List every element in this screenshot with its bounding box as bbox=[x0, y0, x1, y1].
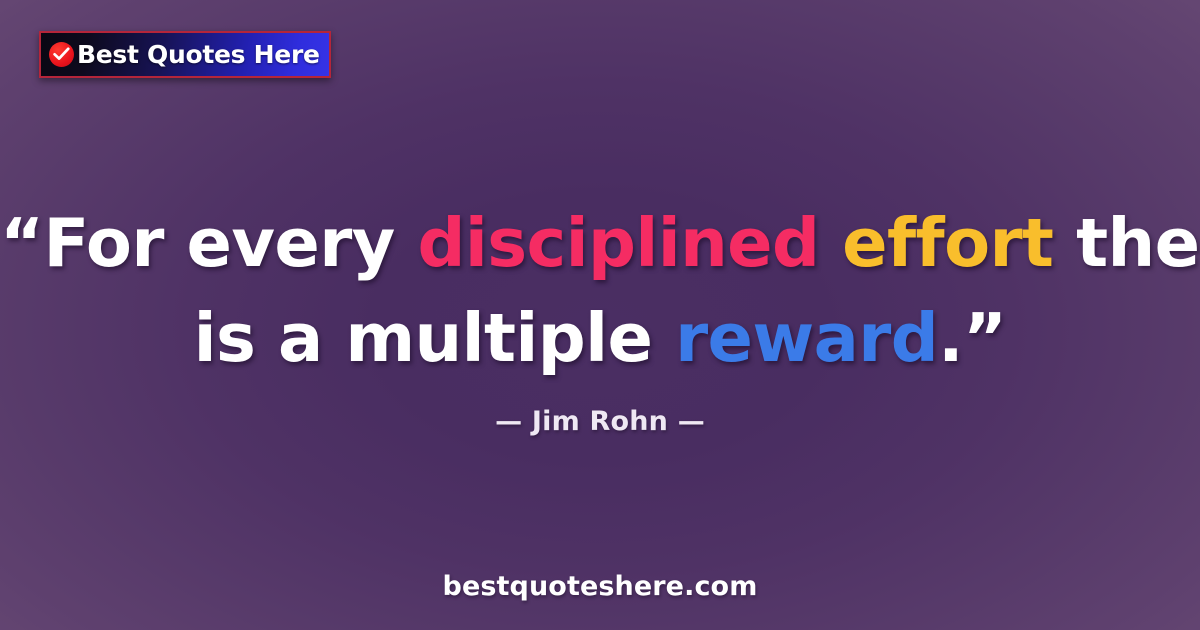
check-circle-icon bbox=[49, 42, 74, 67]
quote-line2-part1: is a multiple bbox=[194, 299, 675, 377]
brand-name-label: Best Quotes Here bbox=[77, 42, 320, 67]
quote-poster: Best Quotes Here “For every disciplined … bbox=[0, 0, 1200, 630]
quote-line1-part1: For every bbox=[43, 204, 417, 282]
quote-line-2: is a multiple reward.” bbox=[0, 291, 1200, 386]
quote-open-mark: “ bbox=[0, 204, 43, 282]
quote-close-mark: ” bbox=[963, 299, 1006, 377]
quote-block: “For every disciplined effort there is a… bbox=[0, 196, 1200, 386]
quote-line-1: “For every disciplined effort there bbox=[0, 196, 1200, 291]
brand-badge[interactable]: Best Quotes Here bbox=[39, 31, 331, 78]
quote-highlight-reward: reward bbox=[675, 299, 938, 377]
site-url-label: bestquoteshere.com bbox=[0, 571, 1200, 602]
quote-highlight-effort: effort bbox=[842, 204, 1053, 282]
quote-author: — Jim Rohn — bbox=[0, 406, 1200, 437]
quote-line2-part2: . bbox=[938, 299, 963, 377]
quote-line1-part2: there bbox=[1053, 204, 1200, 282]
quote-line1-space bbox=[819, 204, 842, 282]
quote-highlight-disciplined: disciplined bbox=[418, 204, 820, 282]
